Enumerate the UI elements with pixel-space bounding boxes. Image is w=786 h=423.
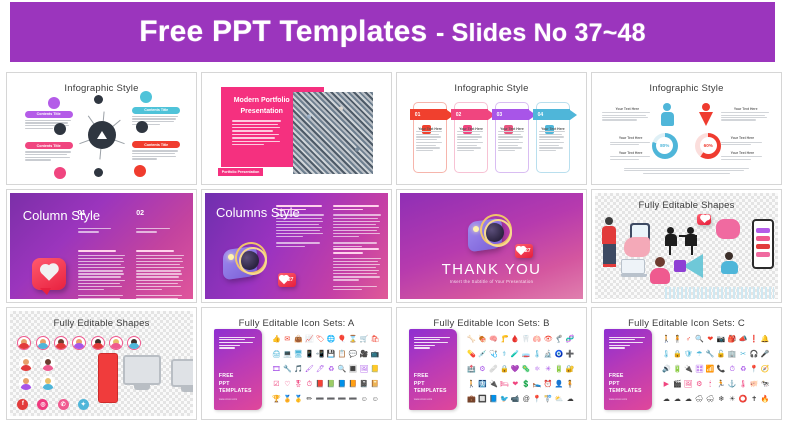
slide-3-card-2[interactable]: 02 Your Text Here	[454, 102, 489, 173]
woman-with-heart-figure	[721, 252, 741, 276]
cloud-icon: ☁	[567, 396, 574, 403]
cover-url: www.xxxxx.com	[414, 398, 432, 401]
balloon-icon: 🎈	[338, 336, 347, 343]
slide-11-title: Fully Editable Icon Sets: B	[400, 318, 583, 329]
laptop-icon: 💻	[283, 351, 292, 358]
cow-icon: 🐄	[761, 381, 770, 388]
running-icon: 🏃	[717, 381, 726, 388]
mail-icon: ✉	[284, 336, 290, 343]
donut-chart-female: 60%	[695, 133, 721, 159]
medal-icon: 🎖	[294, 381, 303, 388]
avatar	[91, 336, 105, 350]
minus-circle-icon: ➖	[327, 396, 336, 403]
hub-center-node	[88, 121, 116, 149]
gear-icon: ⚙	[696, 381, 702, 388]
stopwatch-icon: ⏱	[307, 381, 312, 388]
slide-5-column-2: 02	[136, 210, 184, 298]
bone-icon: 🦴	[467, 336, 476, 343]
male-icon: ♂	[686, 336, 691, 343]
compass-icon: 🧭	[761, 366, 770, 373]
cover-top-lines	[609, 337, 646, 350]
heart-notification-icon	[697, 214, 711, 225]
ledger-icon: 📔	[371, 381, 380, 388]
asterisk-icon: ✳	[545, 366, 551, 373]
cover-free-label: FREEPPTTEMPLATES	[414, 373, 447, 396]
slide-thumbnail-12[interactable]: Fully Editable Icon Sets: C FREEPPTTEMPL…	[591, 307, 782, 420]
slide-3-title: Infographic Style	[400, 83, 583, 94]
scissors-icon: ✂	[740, 351, 746, 358]
donut-value-female: 60%	[704, 143, 713, 148]
triangle-icon	[97, 131, 107, 139]
rain-cloud-icon: 🌧	[695, 396, 704, 403]
slide-1-pill-group-4: Contents Title	[132, 141, 180, 161]
book-icon: 📕	[316, 381, 325, 388]
trophy-icon: 🏆	[272, 396, 281, 403]
pin-icon: 📍	[750, 366, 759, 373]
man-with-phone-figure	[602, 217, 618, 265]
book-icon: 📘	[338, 381, 347, 388]
heart-chat-bubble-icon	[32, 258, 66, 290]
lock-icon: 🔒	[500, 366, 509, 373]
slide-1-text-lines-4	[132, 150, 180, 159]
slide-8-canvas: Fully Editable Shapes	[595, 193, 778, 298]
slide-4-right-note-1: Your Text Here	[721, 107, 771, 122]
cloud-icon: ☁	[685, 396, 692, 403]
hub-icon-facebook	[54, 167, 66, 179]
slide-thumbnail-7[interactable]: 27 THANK YOU Insert the Subtitle of Your…	[396, 189, 587, 302]
slide-4-left-note-2: Your Text Here	[610, 136, 652, 146]
hub-icon-youtube	[134, 165, 146, 177]
xray-icon: 🩻	[478, 381, 487, 388]
pen-icon: 🖊	[316, 366, 325, 373]
slide-4-note-heading-6: Your Text Here	[721, 151, 763, 155]
avatar	[41, 376, 55, 390]
city-skyline-shape	[665, 287, 775, 299]
camera-icon: 📷	[717, 336, 726, 343]
smartphone-mockup	[98, 353, 118, 403]
wrench-icon: 🔧	[706, 351, 715, 358]
donut-value-male: 80%	[660, 143, 669, 148]
avatar	[54, 336, 68, 350]
heart-icon: ❤	[707, 336, 713, 343]
signal-icon: 📶	[706, 366, 715, 373]
slide-3-card-3[interactable]: 03 Your Text Here	[495, 102, 530, 173]
headphones-icon: 🎧	[750, 351, 759, 358]
equalizer-icon: 🎛	[695, 366, 704, 373]
lock-icon: 🔒	[673, 351, 682, 358]
cover-free-label: FREEPPTTEMPLATES	[219, 373, 252, 396]
clipboard-icon: 📋	[338, 351, 347, 358]
snowflake-icon: ❄	[718, 396, 724, 403]
node-dot-3	[94, 95, 103, 104]
laptop-chat-figure	[621, 259, 647, 281]
slide-thumbnail-5[interactable]: Column Style 01	[6, 189, 197, 302]
grid-icon: 🔳	[349, 366, 358, 373]
checkbox-icon: ☑	[273, 381, 279, 388]
sun-icon: ☀	[729, 396, 735, 403]
slide-2-canvas: Modern Portfolio Presentation Portfolio …	[205, 76, 388, 181]
circle-icon: ⭕	[739, 396, 748, 403]
slide-7-title: THANK YOU	[400, 261, 583, 278]
heart-icon: ♡	[284, 381, 290, 388]
lungs-icon: 🫁	[533, 336, 542, 343]
thermometer-icon: 🌡	[739, 381, 748, 388]
pill-icon: 💊	[467, 351, 476, 358]
award-icon: 🏅	[283, 396, 292, 403]
slide-7-canvas: 27 THANK YOU Insert the Subtitle of Your…	[400, 193, 583, 298]
slide-3-card-lines-1	[416, 131, 445, 153]
prosthetic-icon: 🦿	[555, 336, 564, 343]
exclamation-icon: ❗	[750, 336, 759, 343]
slide-thumbnail-6[interactable]: Columns Style 27	[201, 189, 392, 302]
avatar	[127, 336, 141, 350]
slide-2-body-lines	[232, 120, 283, 147]
printer-icon: 🖨	[272, 351, 281, 358]
video-camera-icon: 🎥	[360, 351, 369, 358]
petri-dish-icon: 🧫	[522, 351, 531, 358]
pencil-icon: ✏	[306, 396, 312, 403]
male-figure-icon	[661, 103, 674, 129]
slide-4-left-note-1: Your Text Here	[602, 107, 652, 122]
slide-12-canvas: Fully Editable Icon Sets: C FREEPPTTEMPL…	[595, 311, 778, 416]
hourglass-icon: ⌛	[349, 336, 358, 343]
cart-icon: 🛒	[360, 336, 369, 343]
slide-5-canvas: Column Style 01	[10, 193, 193, 298]
slide-5-column-1: 01	[78, 210, 126, 298]
anchor-icon: ⚓	[728, 381, 737, 388]
clapperboard-icon: 🎬	[673, 381, 682, 388]
cover-top-lines	[219, 337, 256, 350]
pig-icon: 🐖	[750, 381, 759, 388]
pin-icon: 📍	[533, 396, 542, 403]
slide-3-arrow-3: 03	[492, 109, 536, 120]
banner-title: Free PPT Templates - Slides No 37~48	[139, 15, 645, 49]
at-icon: @	[523, 396, 530, 403]
lock-closed-icon: 🔐	[566, 366, 575, 373]
slide-3-card-4[interactable]: 04 Your Text Here	[536, 102, 571, 173]
patient-bed-icon: 🛌	[533, 381, 542, 388]
shield-icon: 🛡	[684, 351, 693, 358]
slide-1-title: Infographic Style	[10, 83, 193, 94]
eye-icon: 👁	[544, 336, 553, 343]
notebook-icon: 📒	[371, 366, 380, 373]
slide-4-right-note-2: Your Text Here	[721, 136, 763, 146]
test-tube-icon: 🧪	[511, 351, 520, 358]
hospital-icon: 🏥	[467, 366, 476, 373]
hand-holding-tablet	[624, 223, 658, 259]
woman-sitting-figure	[650, 257, 672, 285]
slide-11-icon-grid: 🦴 🍖 🧠 🦵 🩸 🦷 🫁 👁 🦿 🧬 💊 💉 🩺 ⚕ 🧪 🧫	[466, 332, 576, 408]
brush-icon: 🖌	[305, 366, 314, 373]
minus-circle-icon: ➖	[349, 396, 358, 403]
avatar	[19, 357, 33, 371]
slide-thumbnail-4[interactable]: Infographic Style Your Text Here Your Te…	[591, 72, 782, 185]
slide-1-canvas: Infographic Style Contents Title Content…	[10, 76, 193, 181]
speaker-icon: 🔊	[662, 366, 671, 373]
microscope-icon: 🔬	[544, 351, 553, 358]
slide-1-pill-label-3: Contents Title	[25, 142, 73, 149]
node-dot-4	[94, 168, 103, 177]
globe-icon: 🌐	[327, 336, 336, 343]
slide-1-pill-label-4: Contents Title	[132, 141, 180, 148]
building-icon: 🏢	[728, 351, 737, 358]
desktop-monitor-mockup	[171, 359, 193, 387]
slide-10-icon-grid: 👍 ✉ 👜 📈 🏷 🌐 🎈 ⌛ 🛒 🛍 🖨 💻 🖥 📱 📲 💾	[271, 332, 381, 408]
notebook-icon: 📓	[360, 381, 369, 388]
avatar	[36, 336, 50, 350]
meat-icon: 🍖	[478, 336, 487, 343]
slide-4-title: Infographic Style	[595, 83, 778, 94]
slide-1-pill-group-3: Contents Title	[25, 142, 73, 162]
dna-icon: 🧬	[566, 336, 575, 343]
hub-icon-document	[48, 97, 60, 109]
slide-2-crowd-photo	[293, 92, 374, 174]
like-badge-icon: 27	[278, 273, 296, 287]
recycle-icon: ♻	[740, 366, 746, 373]
monitor-icon: 🖥	[294, 351, 303, 358]
syringe-icon: 💉	[478, 351, 487, 358]
desk-workers-silhouette	[665, 221, 709, 255]
cross-icon: ✝	[751, 396, 757, 403]
gear-icon: ⚙	[479, 366, 485, 373]
unlock-icon: 🔓	[717, 351, 726, 358]
slide-11-cover-panel: FREEPPTTEMPLATES www.xxxxx.com	[409, 329, 457, 410]
slide-3-card-1[interactable]: 01 Your Text Here	[413, 102, 448, 173]
search-icon: 🔍	[695, 336, 704, 343]
smartphone-mockup	[752, 219, 774, 271]
plus-icon: ➕	[566, 351, 575, 358]
slide-12-icon-grid: 🚶 🧍 ♂ 🔍 ❤ 📷 🎒 📣 ❗ 🔔 🌡 🔒 🛡 ☂ 🔧 🔓	[661, 332, 771, 408]
play-icon: ▶	[664, 381, 669, 388]
battery-icon: 🔋	[673, 366, 682, 373]
dollar-icon: 💲	[522, 381, 531, 388]
node-dot-1	[54, 123, 66, 135]
slide-10-title: Fully Editable Icon Sets: A	[205, 318, 388, 329]
briefcase-icon: 👜	[294, 336, 303, 343]
bell-icon: 🔔	[761, 336, 770, 343]
facebook-icon: f	[17, 399, 28, 410]
heart-icon: 💜	[511, 366, 520, 373]
slide-4-canvas: Infographic Style Your Text Here Your Te…	[595, 76, 778, 181]
avatar	[41, 357, 55, 371]
bag-icon: 🛍	[371, 336, 380, 343]
image-icon: 🖼	[684, 381, 693, 388]
slide-thumbnail-9[interactable]: Fully Editable Shapes f ◎ ✆ ✦	[6, 307, 197, 420]
plug-icon: 🔌	[684, 366, 693, 373]
thermometer-icon: 🌡	[533, 351, 542, 358]
video-icon: 📹	[511, 396, 520, 403]
slide-4-note-heading-3: Your Text Here	[610, 151, 652, 155]
brain-icon: 🧠	[489, 336, 498, 343]
walking-icon: 🚶	[662, 336, 671, 343]
page-title-banner: Free PPT Templates - Slides No 37~48	[10, 2, 775, 62]
avatar	[72, 336, 86, 350]
twitter-icon: ✦	[78, 399, 89, 410]
instagram-icon: ◎	[37, 399, 48, 410]
slide-thumbnail-10[interactable]: Fully Editable Icon Sets: A FREEPPTTEMPL…	[201, 307, 392, 420]
slide-9-title: Fully Editable Shapes	[10, 318, 193, 329]
slide-5-column-number-1: 01	[78, 210, 86, 217]
slide-3-arrow-1: 01	[410, 109, 454, 120]
signpost-icon: 🚏	[544, 396, 553, 403]
bandage-icon: 🩹	[489, 366, 498, 373]
slide-3-card-number-3: 03	[492, 109, 529, 120]
square-icon: 🔲	[478, 396, 487, 403]
recycle-icon: ♻	[328, 366, 334, 373]
camera-3d-icon	[466, 212, 512, 258]
speech-bubble-shape	[716, 219, 742, 243]
avatar	[17, 336, 31, 350]
book-icon: 📙	[349, 381, 358, 388]
avatar	[19, 376, 33, 390]
first-place-icon: 🥇	[294, 396, 303, 403]
banner-title-main: Free PPT Templates	[139, 15, 427, 48]
cover-top-lines	[414, 337, 451, 350]
slide-thumbnail-2[interactable]: Modern Portfolio Presentation Portfolio …	[201, 72, 392, 185]
linkedin-icon: 💼	[467, 396, 476, 403]
camera-3d-icon	[221, 240, 267, 286]
slide-3-arrow-2: 02	[451, 109, 495, 120]
leg-icon: 🦵	[500, 336, 509, 343]
minus-circle-icon: ➖	[316, 396, 325, 403]
slide-4-right-note-3: Your Text Here	[721, 151, 763, 161]
slide-4-note-heading-5: Your Text Here	[721, 136, 763, 140]
megaphone-icon	[683, 254, 703, 278]
slide-11-canvas: Fully Editable Icon Sets: B FREEPPTTEMPL…	[400, 311, 583, 416]
phone-icon: 📞	[717, 366, 726, 373]
snow-cloud-icon: 🌨	[706, 396, 715, 403]
walking-icon: 🚶	[467, 381, 476, 388]
fire-icon: 🔥	[761, 396, 770, 403]
minus-circle-icon: ➖	[338, 396, 347, 403]
slide-thumbnail-3[interactable]: Infographic Style 01 Your Text Here	[396, 72, 587, 185]
smiley-icon: ☺	[372, 396, 379, 403]
megaphone-icon: 📣	[739, 336, 748, 343]
user-icon: 👤	[555, 381, 564, 388]
like-badge-icon: 27	[515, 244, 533, 258]
hub-icon-twitter	[140, 91, 152, 103]
slide-10-cover-panel: FREEPPTTEMPLATES www.xxxxx.com	[214, 329, 262, 410]
slide-4-left-note-3: Your Text Here	[610, 151, 652, 161]
microphone-icon: 🎤	[761, 351, 770, 358]
smiley-icon: ☺	[361, 396, 368, 403]
cover-url: www.xxxxx.com	[219, 398, 237, 401]
cloud-icon: ☁	[663, 396, 670, 403]
atom-icon: ⚛	[534, 366, 540, 373]
candle-icon: 🕯	[709, 381, 711, 388]
chat-icon: 💬	[349, 351, 358, 358]
slide-8-title: Fully Editable Shapes	[595, 200, 778, 211]
amulet-icon: 🧿	[555, 351, 564, 358]
female-figure-icon	[699, 103, 712, 129]
cloud-sun-icon: ⛅	[555, 396, 564, 403]
slide-2-title: Modern Portfolio Presentation	[231, 96, 293, 117]
battery-icon: 🔋	[555, 366, 564, 373]
slide-2-badge: Portfolio Presentation	[218, 168, 264, 176]
slide-1-pill-label-2: Contents Title	[132, 107, 180, 114]
medical-icon: ⚕	[502, 351, 506, 358]
plug-icon: 🔌	[489, 381, 498, 388]
avatar	[109, 336, 123, 350]
donut-chart-male: 80%	[652, 133, 678, 159]
slide-6-canvas: Columns Style 27	[205, 193, 388, 298]
slide-thumbnail-11[interactable]: Fully Editable Icon Sets: B FREEPPTTEMPL…	[396, 307, 587, 420]
blood-icon: 🩸	[511, 336, 520, 343]
image-icon: 🖼	[360, 366, 369, 373]
slide-3-canvas: Infographic Style 01 Your Text Here	[400, 76, 583, 181]
slide-10-canvas: Fully Editable Icon Sets: A FREEPPTTEMPL…	[205, 311, 388, 416]
slide-1-text-lines-3	[25, 151, 73, 160]
slide-4-note-heading-1: Your Text Here	[602, 107, 652, 111]
slide-thumbnail-8[interactable]: Fully Editable Shapes	[591, 189, 782, 302]
slide-3-card-number-2: 02	[451, 109, 488, 120]
timer-icon: ⏱	[730, 366, 735, 373]
cover-free-label: FREEPPTTEMPLATES	[609, 373, 642, 396]
ppt-template-preview-page: Free PPT Templates - Slides No 37~48 Inf…	[0, 0, 786, 423]
thermometer-icon: 🌡	[662, 351, 671, 358]
facebook-icon: 📘	[489, 396, 498, 403]
disk-icon: 💾	[327, 351, 336, 358]
slide-3-card-lines-3	[498, 131, 527, 153]
slide-3-card-number-1: 01	[410, 109, 447, 120]
slide-3-card-lines-2	[457, 131, 486, 153]
person-icon: 🧍	[566, 381, 575, 388]
slide-thumbnail-1[interactable]: Infographic Style Contents Title Content…	[6, 72, 197, 185]
node-dot-2	[136, 121, 148, 133]
slide-3-card-lines-4	[539, 131, 568, 153]
slide-3-arrow-4: 04	[533, 109, 577, 120]
mobile-icon: 📲	[316, 351, 325, 358]
umbrella-icon: ☂	[696, 351, 702, 358]
slide-6-column-3	[333, 248, 381, 292]
music-icon: 🎵	[294, 366, 303, 373]
desktop-monitor-mockup	[123, 355, 161, 385]
backpack-icon: 🎒	[728, 336, 737, 343]
tag-icon: 🏷	[316, 336, 325, 343]
slide-4-footer-lines	[624, 168, 748, 174]
slide-12-title: Fully Editable Icon Sets: C	[595, 318, 778, 329]
stethoscope-icon: 🩺	[489, 351, 498, 358]
whatsapp-icon: ✆	[58, 399, 69, 410]
slide-6-column-1	[276, 205, 324, 249]
slide-7-subtitle: Insert the Subtitle of Your Presentation	[400, 279, 583, 284]
heart-icon: ❤	[512, 381, 518, 388]
book-icon: 📗	[327, 381, 336, 388]
phone-icon: 📱	[305, 351, 314, 358]
banner-title-sub: - Slides No 37~48	[436, 19, 646, 47]
standing-person-icon: 🧍	[673, 336, 682, 343]
thumbs-up-icon: 👍	[272, 336, 281, 343]
wrench-icon: 🔧	[283, 366, 292, 373]
slide-9-canvas: Fully Editable Shapes f ◎ ✆ ✦	[10, 311, 193, 416]
cover-url: www.xxxxx.com	[609, 398, 627, 401]
slide-12-cover-panel: FREEPPTTEMPLATES www.xxxxx.com	[604, 329, 652, 410]
virus-icon: 🦠	[522, 366, 531, 373]
clock-icon: ⏰	[544, 381, 553, 388]
slide-6-column-2	[333, 205, 381, 249]
slide-1-pill-label-1: Contents Title	[25, 111, 73, 118]
slide-3-card-number-4: 04	[533, 109, 570, 120]
slide-3-card-row: 01 Your Text Here	[413, 102, 570, 173]
tv-icon: 📺	[371, 351, 380, 358]
slide-thumbnail-grid: Infographic Style Contents Title Content…	[6, 72, 782, 420]
tooth-icon: 🦷	[522, 336, 531, 343]
slide-1-hub-diagram	[72, 105, 132, 165]
bed-icon: 🛏	[500, 381, 509, 388]
slide-4-note-heading-2: Your Text Here	[610, 136, 652, 140]
film-icon: 🎞	[272, 366, 281, 373]
chart-icon: 📈	[305, 336, 314, 343]
